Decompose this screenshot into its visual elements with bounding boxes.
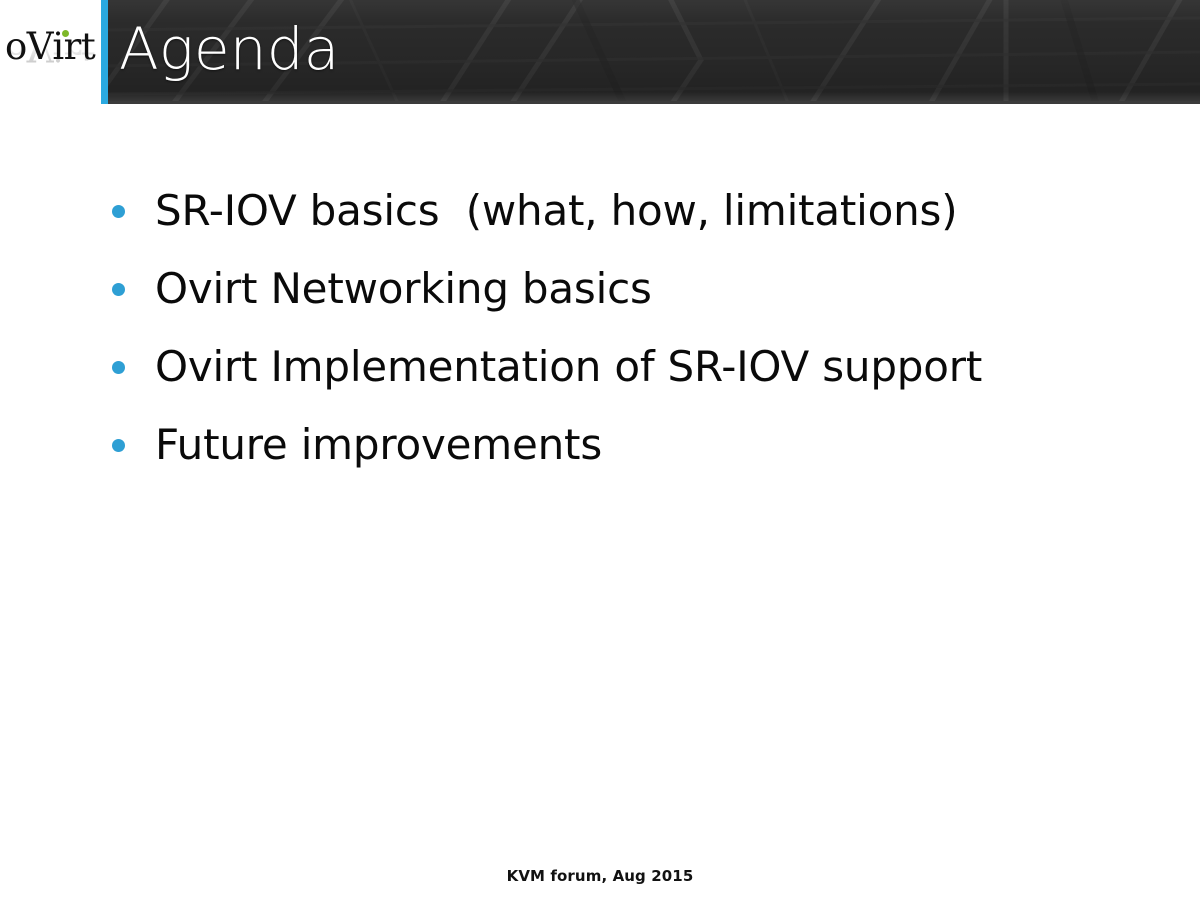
bullet-dot-icon — [112, 361, 125, 374]
slide-footer: KVM forum, Aug 2015 — [0, 866, 1200, 885]
bullet-dot-icon — [112, 283, 125, 296]
list-item-label: Future improvements — [155, 417, 1152, 473]
bullet-dot-icon — [112, 205, 125, 218]
presentation-slide: Agenda oVirt oVirt SR-IOV basics (what, … — [0, 0, 1200, 901]
list-item-label: SR-IOV basics (what, how, limitations) — [155, 183, 1152, 239]
slide-footer-label: KVM forum, Aug 2015 — [507, 867, 694, 885]
header-accent-bar — [101, 0, 108, 104]
list-item-label: Ovirt Networking basics — [155, 261, 1152, 317]
ovirt-logo-dot-icon — [62, 30, 69, 37]
list-item-label: Ovirt Implementation of SR-IOV support — [155, 339, 1152, 395]
ovirt-logo: oVirt oVirt — [0, 0, 101, 104]
list-item: Future improvements — [112, 417, 1152, 495]
slide-bullet-list: SR-IOV basics (what, how, limitations) O… — [112, 183, 1152, 495]
ovirt-logo-reflection: oVirt — [5, 42, 97, 68]
bullet-dot-icon — [112, 439, 125, 452]
list-item: Ovirt Implementation of SR-IOV support — [112, 339, 1152, 417]
slide-title: Agenda — [119, 13, 339, 85]
list-item: Ovirt Networking basics — [112, 261, 1152, 339]
list-item: SR-IOV basics (what, how, limitations) — [112, 183, 1152, 261]
header-bottom-edge — [101, 101, 1200, 104]
